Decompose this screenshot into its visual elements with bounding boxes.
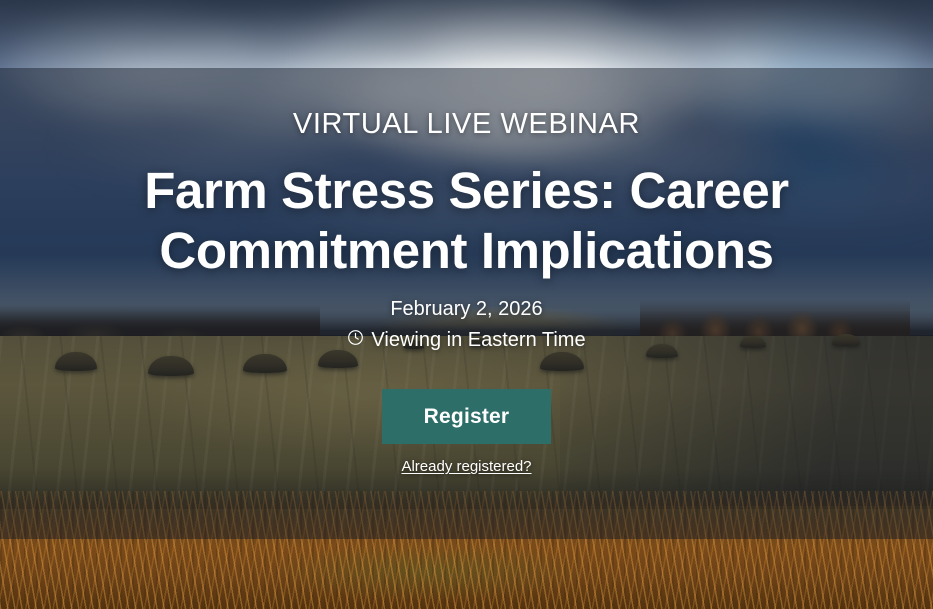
timezone-label: Viewing in Eastern Time <box>371 328 585 352</box>
webinar-type-label: VIRTUAL LIVE WEBINAR <box>293 110 640 139</box>
register-button[interactable]: Register <box>382 389 551 444</box>
page-title: Farm Stress Series: Career Commitment Im… <box>87 161 847 281</box>
webinar-date: February 2, 2026 <box>390 297 542 321</box>
clock-icon <box>347 328 364 352</box>
already-registered-link[interactable]: Already registered? <box>401 458 531 475</box>
hero-content: VIRTUAL LIVE WEBINAR Farm Stress Series:… <box>0 0 933 609</box>
webinar-hero-banner: VIRTUAL LIVE WEBINAR Farm Stress Series:… <box>0 0 933 609</box>
timezone-note: Viewing in Eastern Time <box>347 328 585 352</box>
